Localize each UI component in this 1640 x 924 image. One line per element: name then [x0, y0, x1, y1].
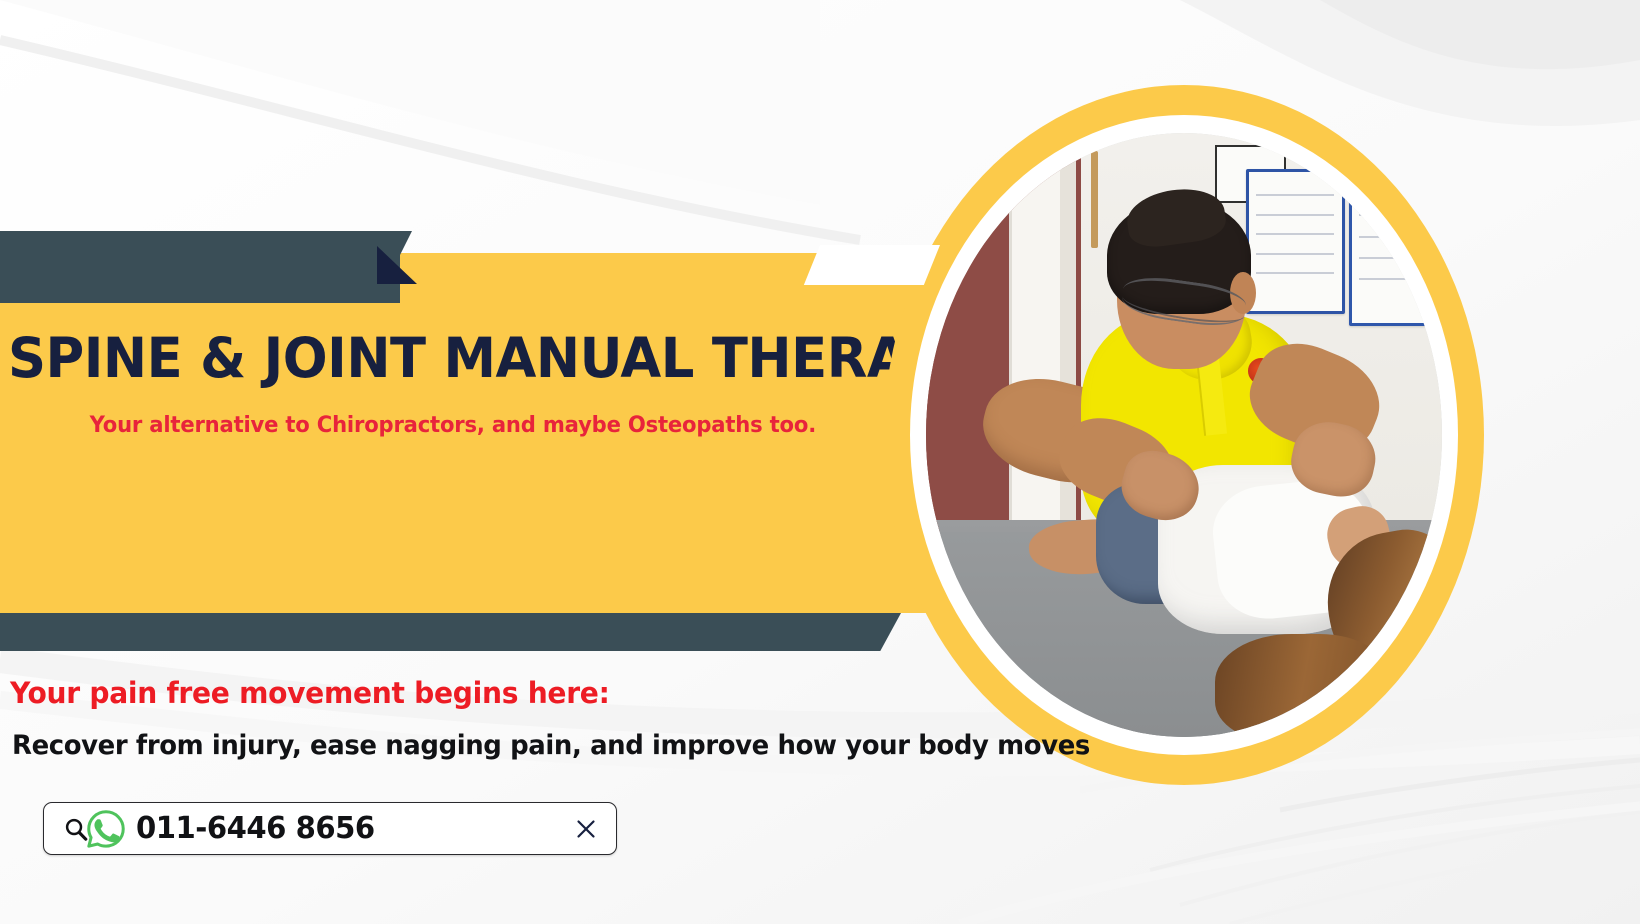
teal-top-ribbon [0, 231, 400, 303]
therapy-photo [926, 133, 1442, 737]
cta-description: Recover from injury, ease nagging pain, … [12, 730, 1090, 761]
teal-bottom-ribbon-slant [855, 613, 901, 651]
page-subtitle: Your alternative to Chiropractors, and m… [8, 387, 930, 438]
close-icon[interactable] [574, 817, 598, 841]
teal-bottom-ribbon [0, 613, 880, 651]
photo-yellow-ring [884, 85, 1484, 785]
headline-block: SPINE & JOINT MANUAL THERAPIES Your alte… [8, 330, 968, 438]
yellow-panel-notch [804, 245, 940, 285]
photo-white-ring [910, 115, 1458, 755]
cta-heading: Your pain free movement begins here: [10, 676, 610, 710]
page-title: SPINE & JOINT MANUAL THERAPIES [8, 330, 930, 387]
whatsapp-icon[interactable] [84, 807, 128, 851]
phone-number-value[interactable]: 011-6446 8656 [136, 811, 561, 846]
hero-banner: SPINE & JOINT MANUAL THERAPIES Your alte… [0, 0, 1640, 924]
search-input[interactable]: 011-6446 8656 [43, 802, 617, 855]
